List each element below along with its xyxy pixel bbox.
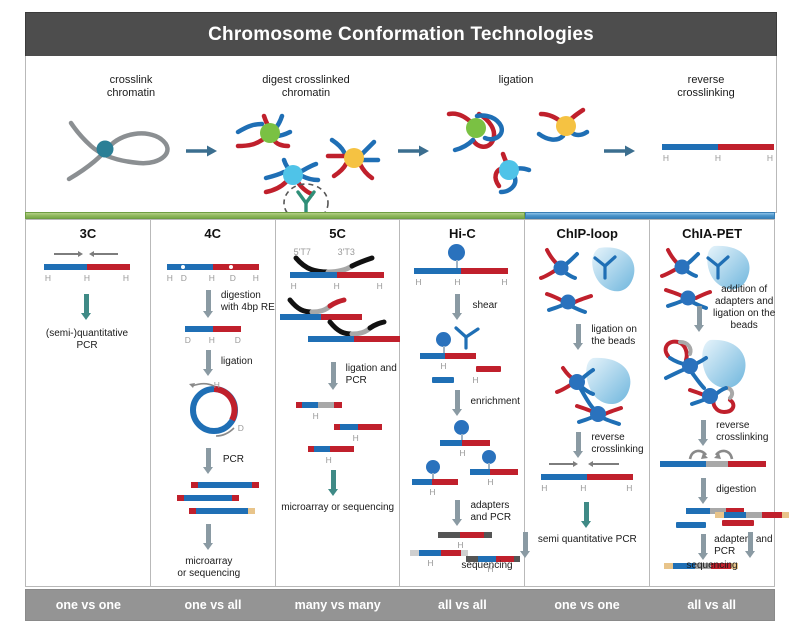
antibody-hic-icon xyxy=(452,324,486,350)
page-title: Chromosome Conformation Technologies xyxy=(208,24,594,46)
primer-arrow-left-icon xyxy=(88,250,118,257)
bead-blob-icon xyxy=(702,340,745,388)
label-chip-reverse: reverse crosslinking xyxy=(591,432,655,456)
circular-dna-4c xyxy=(176,380,276,440)
fragment-hic-enrich-1 xyxy=(420,353,476,359)
technique-columns: 3C H H H (semi-)quantitative PCR xyxy=(25,219,775,587)
overview-panel: crosslink chromatin digest crosslinked c… xyxy=(25,56,777,213)
fragment-3c xyxy=(44,264,130,270)
column-title-4c: 4C xyxy=(151,226,275,241)
overview-step-2-label: digest crosslinked chromatin xyxy=(231,74,381,100)
fragment-5c-top xyxy=(290,272,384,278)
arrow-hic-enrichment-icon xyxy=(452,390,463,416)
arrow-hic-adapters-icon xyxy=(452,500,463,526)
arrow-4c-digestion-icon xyxy=(203,290,214,318)
fragment-5c-prod-1 xyxy=(296,402,342,408)
arrow-chip-pcr-icon xyxy=(581,502,592,528)
fragment-chia-dig-3 xyxy=(722,520,754,526)
label-chia-adapters: addition of adapters and ligation on the… xyxy=(708,284,780,332)
fragment-5c-prod-3 xyxy=(308,446,354,452)
crosslinked-chromatin-art xyxy=(61,111,191,186)
chip-loop-beads-art xyxy=(533,244,653,322)
fragment-4c-top xyxy=(167,264,259,270)
biotin-bead-icon xyxy=(448,244,465,261)
chia-pet-ligated-art xyxy=(656,338,776,416)
primer-arrow-left-icon xyxy=(587,460,619,467)
biotin-bead-icon xyxy=(454,420,469,435)
fragment-4c-product-3 xyxy=(189,508,255,514)
fragment-hic-loose-1 xyxy=(476,366,501,372)
fragment-chip-product xyxy=(541,474,633,480)
column-title-chip-loop: ChIP-loop xyxy=(525,226,649,241)
label-chip-ligation: ligation on the beads xyxy=(591,324,653,348)
column-5c[interactable]: 5C 5'T7 3'T3 H H H xyxy=(276,219,401,587)
figure-title-bar: Chromosome Conformation Technologies xyxy=(25,12,777,58)
overview-arrow-2-icon xyxy=(398,144,432,158)
arrow-chia-reverse-icon xyxy=(698,420,709,446)
fragment-hic-loose-2 xyxy=(432,377,454,383)
crosslink-node-icon xyxy=(97,141,114,158)
node-lightblue-icon xyxy=(283,165,303,185)
biotin-bead-icon xyxy=(436,332,451,347)
bead-blob-icon xyxy=(707,246,749,289)
fragment-chia-reverse xyxy=(660,461,766,467)
column-title-hic: Hi-C xyxy=(400,226,524,241)
label-4c-pcr: PCR xyxy=(223,454,244,466)
column-title-3c: 3C xyxy=(26,226,150,241)
fragment-hic-e1 xyxy=(440,440,490,446)
arrow-chia-sequencing-icon xyxy=(745,532,756,558)
label-chip-pcr: semi quantitative PCR xyxy=(525,534,649,546)
overview-arrow-3-icon xyxy=(604,144,638,158)
arrow-5c-output-icon xyxy=(328,470,339,496)
protein-node-icon xyxy=(590,406,606,422)
arrow-5c-ligation-icon xyxy=(328,362,339,390)
overview-step-3-label: ligation xyxy=(456,74,576,87)
group-band-green xyxy=(25,212,525,219)
protein-node-icon xyxy=(675,260,690,275)
fragment-hic-adapter-1 xyxy=(438,532,492,538)
node-orange-icon xyxy=(344,148,364,168)
footer-cell-5c: many vs many xyxy=(275,590,400,620)
fragment-chia-final-2 xyxy=(715,512,789,518)
protein-node-icon xyxy=(681,291,696,306)
overview-step-1-label: crosslink chromatin xyxy=(71,74,191,100)
ligated-node-green-icon xyxy=(466,118,486,138)
arrow-hic-shear-icon xyxy=(452,294,463,320)
arrow-chia-digestion-icon xyxy=(698,478,709,504)
column-title-5c: 5C xyxy=(276,226,400,241)
bead-blob-icon xyxy=(587,358,631,404)
fragment-chia-dig-2 xyxy=(676,522,706,528)
column-4c[interactable]: 4C H D H D H digestion with 4bp RE xyxy=(151,219,276,587)
label-hic-adapters: adapters and PCR xyxy=(470,500,530,524)
fragment-hic-top xyxy=(414,268,508,274)
ligation-art xyxy=(441,98,601,203)
label-chia-digestion: digestion xyxy=(716,484,756,496)
label-3c-pcr: (semi-)quantitative PCR xyxy=(30,328,145,352)
label-4c-digestion: digestion with 4bp RE xyxy=(221,290,283,314)
resolution-footer: one vs one one vs all many vs many all v… xyxy=(25,589,775,621)
arrow-4c-pcr-icon xyxy=(203,448,214,474)
label-chia-sequencing: sequencing xyxy=(652,560,772,572)
arrow-chia-adapters-icon xyxy=(694,306,705,332)
fragment-4c-product-1 xyxy=(191,482,259,488)
reverse-crosslink-fragment: H H H xyxy=(662,144,778,170)
protein-node-icon xyxy=(702,388,718,404)
footer-cell-chip-loop: one vs one xyxy=(525,590,650,620)
footer-cell-3c: one vs one xyxy=(26,590,151,620)
column-3c[interactable]: 3C H H H (semi-)quantitative PCR xyxy=(25,219,151,587)
protein-node-icon xyxy=(554,261,569,276)
arrow-hic-sequencing-icon xyxy=(520,532,531,558)
ligated-node-orange-icon xyxy=(556,116,576,136)
protein-node-icon xyxy=(569,374,585,390)
fragment-4c-product-2 xyxy=(177,495,239,501)
footer-cell-4c: one vs all xyxy=(151,590,276,620)
primer-arrow-right-icon xyxy=(549,460,579,467)
label-5c-output: microarray or sequencing xyxy=(277,502,399,514)
ligated-node-lightblue-icon xyxy=(499,160,519,180)
footer-cell-chia-pet: all vs all xyxy=(649,590,774,620)
label-5c-ligation-pcr: ligation and PCR xyxy=(346,363,404,387)
digested-chromatin-art xyxy=(224,102,394,207)
column-chip-loop[interactable]: ChIP-loop xyxy=(525,219,650,587)
arrow-4c-ligation-icon xyxy=(203,350,214,376)
protein-node-icon xyxy=(561,295,576,310)
arrow-4c-output-icon xyxy=(203,524,214,550)
label-chia-reverse: reverse crosslinking xyxy=(716,420,776,444)
chip-loop-ligated-art xyxy=(535,356,655,430)
biotin-bead-icon xyxy=(482,450,496,464)
column-title-chia-pet: ChIA-PET xyxy=(650,226,774,241)
arrow-chip-reverse-icon xyxy=(573,432,584,458)
fragment-hic-e2 xyxy=(470,469,518,475)
node-green-icon xyxy=(260,123,280,143)
biotin-bead-icon xyxy=(426,460,440,474)
footer-cell-hic: all vs all xyxy=(400,590,525,620)
fragment-hic-adapter-2 xyxy=(410,550,468,556)
figure-root: Chromosome Conformation Technologies cro… xyxy=(0,0,800,638)
arrow-chip-ligation-icon xyxy=(573,324,584,350)
fragment-5c-prod-2 xyxy=(334,424,382,430)
arrow-3c-1-icon xyxy=(81,294,92,320)
arrow-chia-adapters-pcr-icon xyxy=(698,534,709,560)
overview-arrow-1-icon xyxy=(186,144,220,158)
overview-step-4-label: reverse crosslinking xyxy=(646,74,766,100)
label-hic-sequencing: sequencing xyxy=(427,560,547,572)
group-band-blue xyxy=(525,212,775,219)
chia-curved-adapter-arrows xyxy=(686,447,746,461)
protein-node-icon xyxy=(682,358,698,374)
column-hic[interactable]: Hi-C H H H shear xyxy=(400,219,525,587)
label-4c-ligation: ligation xyxy=(221,356,253,368)
primer-arrow-right-icon xyxy=(54,250,84,257)
label-hic-enrichment: enrichment xyxy=(470,396,519,408)
column-chia-pet[interactable]: ChIA-PET xyxy=(650,219,775,587)
label-4c-output: microarray or sequencing xyxy=(154,556,264,580)
fragment-hic-e3 xyxy=(412,479,458,485)
bead-blob-icon xyxy=(593,247,635,291)
fragment-5c-3 xyxy=(308,336,400,342)
label-hic-shear: shear xyxy=(472,300,497,312)
fragment-4c-digested xyxy=(185,326,241,332)
